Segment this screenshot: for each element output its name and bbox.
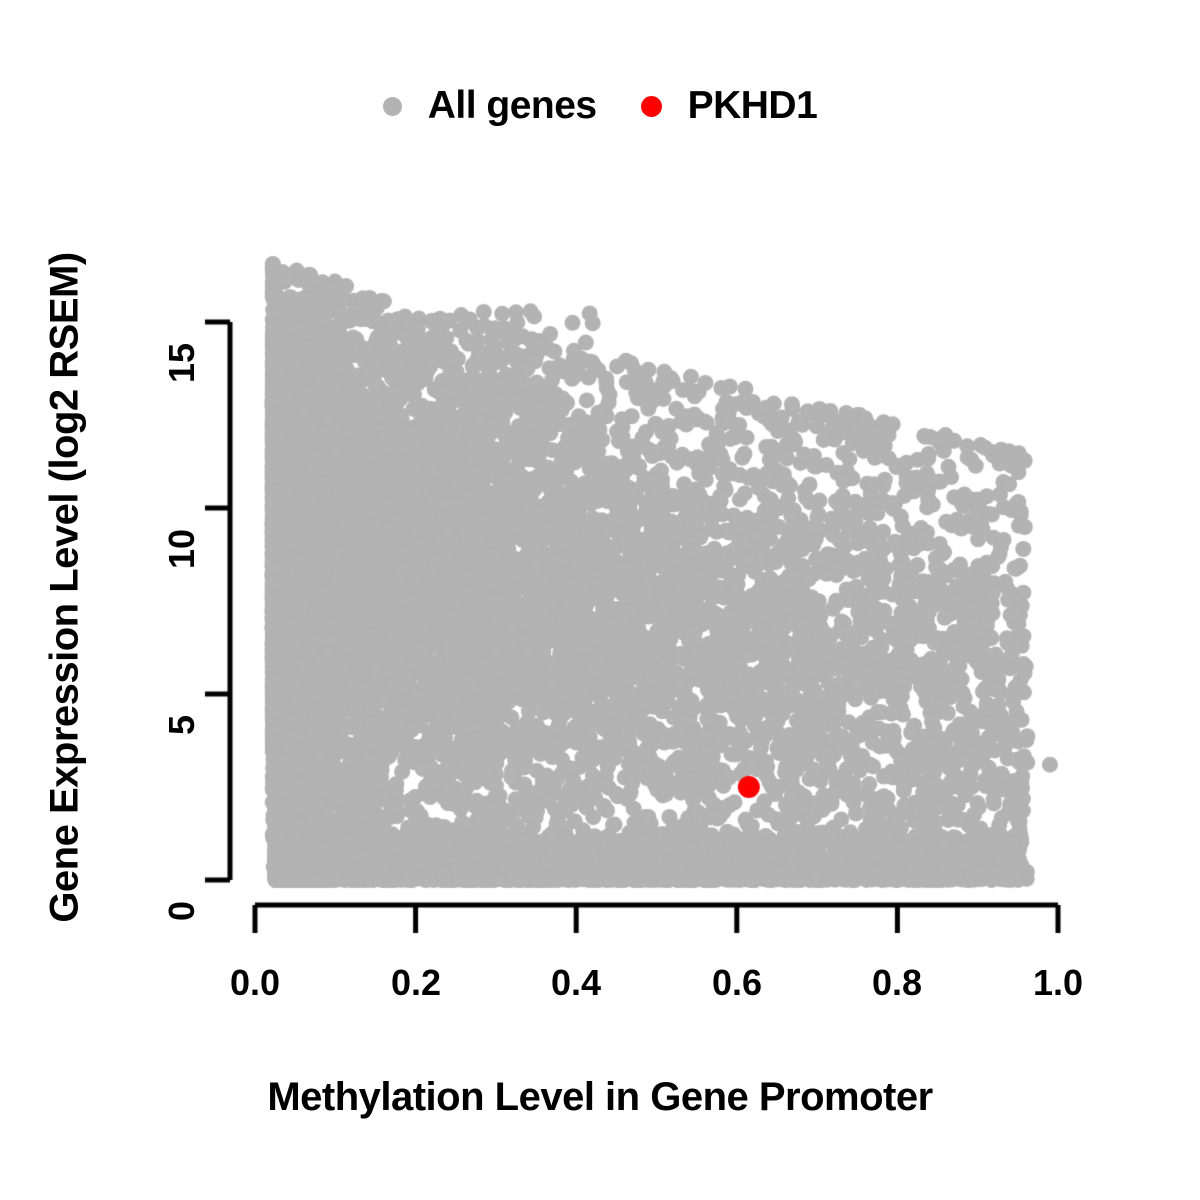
scatter-plot-figure: All genes PKHD1 0 5 10 15 0.0 0.2 0.4 0.… <box>0 0 1200 1200</box>
y-axis-title: Gene Expression Level (log2 RSEM) <box>43 188 88 988</box>
x-tick-label-5: 1.0 <box>1033 962 1083 1004</box>
x-tick-label-4: 0.8 <box>872 962 922 1004</box>
plot-area <box>0 0 1200 1200</box>
x-tick-label-2: 0.4 <box>551 962 601 1004</box>
x-tick-label-3: 0.6 <box>712 962 762 1004</box>
x-tick-label-0: 0.0 <box>230 962 280 1004</box>
x-tick-label-1: 0.2 <box>391 962 441 1004</box>
x-axis-title: Methylation Level in Gene Promoter <box>0 1075 1200 1120</box>
y-tick-label-5: 5 <box>161 715 203 735</box>
y-tick-label-15: 15 <box>161 343 203 383</box>
y-tick-label-10: 10 <box>161 529 203 569</box>
y-tick-label-0: 0 <box>161 901 203 921</box>
